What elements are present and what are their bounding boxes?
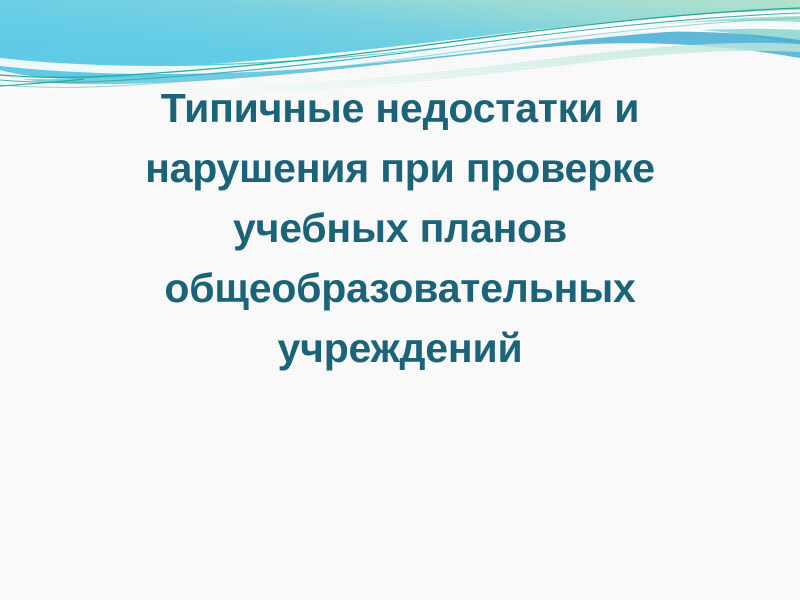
title-line-5: учреждений (0, 318, 800, 378)
slide-title: Типичные недостатки и нарушения при пров… (0, 78, 800, 378)
title-line-3: учебных планов (0, 198, 800, 258)
presentation-slide: Типичные недостатки и нарушения при пров… (0, 0, 800, 600)
title-line-4: общеобразовательных (0, 258, 800, 318)
title-line-1: Типичные недостатки и (0, 78, 800, 138)
title-line-2: нарушения при проверке (0, 138, 800, 198)
